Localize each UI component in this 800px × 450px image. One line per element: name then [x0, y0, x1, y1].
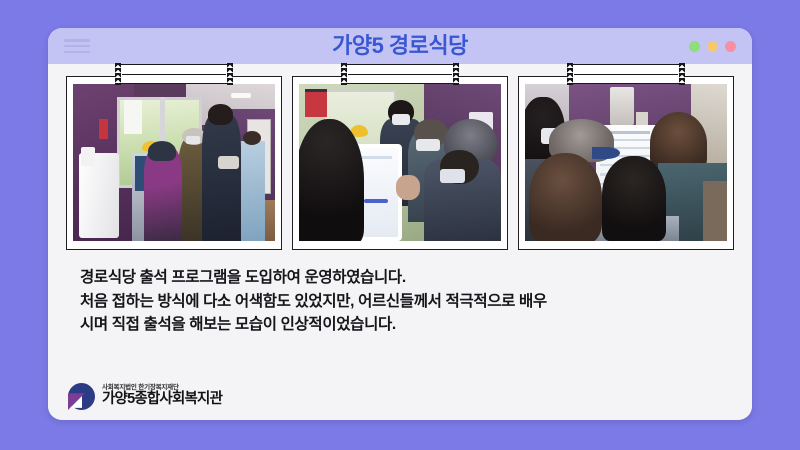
photo-frame-2[interactable]	[292, 76, 508, 250]
tape-line	[348, 74, 452, 75]
caption-line-3: 시며 직접 출석을 해보는 모습이 인상적이었습니다.	[80, 313, 720, 337]
caption-line-2: 처음 접하는 방식에 다소 어색함도 있었지만, 어르신들께서 적극적으로 배우	[80, 290, 720, 314]
window-dot-yellow-icon[interactable]	[707, 41, 718, 52]
hamburger-line	[64, 51, 90, 54]
window-dot-green-icon[interactable]	[689, 41, 700, 52]
photo-scene-tablet-demo	[299, 84, 501, 241]
washi-tape-icon	[572, 64, 680, 84]
window-control-dots	[689, 41, 736, 52]
tape-line	[122, 74, 226, 75]
hamburger-menu-icon[interactable]	[64, 37, 90, 55]
window-dot-pink-icon[interactable]	[725, 41, 736, 52]
photo-image-2	[299, 84, 501, 241]
hamburger-line	[64, 45, 90, 48]
organization-name-block: 사회복지법인 한기장복지재단 가양5종합사회복지관	[102, 385, 222, 407]
window-body: 경로식당 출석 프로그램을 도입하여 운영하였습니다. 처음 접하는 방식에 다…	[48, 64, 752, 420]
photo-image-1	[73, 84, 275, 241]
photo-frame-1[interactable]	[66, 76, 282, 250]
organization-logo-icon	[68, 383, 95, 410]
washi-tape-icon	[120, 64, 228, 84]
photo-gallery	[62, 76, 738, 250]
organization-name: 가양5종합사회복지관	[102, 392, 222, 407]
tape-line	[574, 74, 678, 75]
caption-block: 경로식당 출석 프로그램을 도입하여 운영하였습니다. 처음 접하는 방식에 다…	[62, 250, 738, 337]
photo-frame-3[interactable]	[518, 76, 734, 250]
window-titlebar: 가양5 경로식당	[48, 28, 752, 64]
photo-scene-monitor-crowd	[525, 84, 727, 241]
organization-footer: 사회복지법인 한기장복지재단 가양5종합사회복지관	[68, 383, 222, 410]
app-window-card: 가양5 경로식당	[48, 28, 752, 420]
photo-scene-reception	[73, 84, 275, 241]
washi-tape-icon	[346, 64, 454, 84]
photo-image-3	[525, 84, 727, 241]
caption-line-1: 경로식당 출석 프로그램을 도입하여 운영하였습니다.	[80, 266, 720, 290]
window-title: 가양5 경로식당	[48, 28, 752, 64]
hamburger-line	[64, 39, 90, 42]
